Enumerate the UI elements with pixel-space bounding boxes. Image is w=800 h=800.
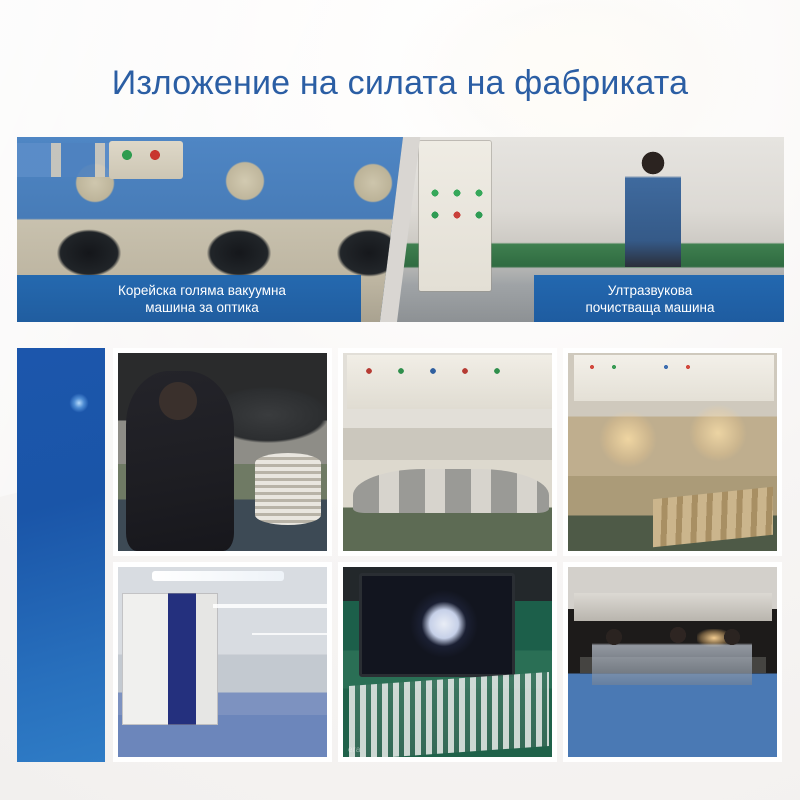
grinding-bench-photo [343, 353, 552, 551]
banner-caption-ultrasonic-cleaning-machine: Ултразвукова почистваща машина [534, 275, 784, 322]
assembly-booths-photo [568, 567, 777, 757]
interferometer-inspection-photo [343, 567, 552, 757]
grid-cell-coating-cleanroom[interactable] [113, 562, 332, 762]
caption-line-1: Ултразвукова [608, 282, 693, 299]
caption-line-2: почистваща машина [585, 299, 714, 316]
grid-cell-lens-tray-inspection[interactable] [113, 348, 332, 556]
lens-edging-stations-photo [568, 353, 777, 551]
showcase: era [17, 348, 784, 764]
work-lamp-glow [697, 629, 731, 647]
grid-cell-grinding-bench[interactable] [338, 348, 557, 556]
grid-cell-assembly-booths[interactable] [563, 562, 782, 762]
photo-grid: era [113, 348, 784, 762]
caption-line-1: Корейска голяма вакуумна [118, 282, 286, 299]
image-watermark: era [348, 745, 361, 754]
grid-cell-lens-edging-stations[interactable] [563, 348, 782, 556]
side-accent-panel [17, 348, 105, 762]
page-canvas: Изложение на силата на фабриката Корейск… [0, 0, 800, 800]
caption-line-2: машина за оптика [145, 299, 259, 316]
banner-caption-korean-vacuum-optics-machine: Корейска голяма вакуумна машина за оптик… [17, 275, 361, 322]
page-title: Изложение на силата на фабриката [0, 61, 800, 105]
lens-tray-inspection-photo [118, 353, 327, 551]
coating-cleanroom-photo [118, 567, 327, 757]
banner: Корейска голяма вакуумна машина за оптик… [17, 137, 784, 322]
grid-cell-interferometer-inspection[interactable]: era [338, 562, 557, 762]
